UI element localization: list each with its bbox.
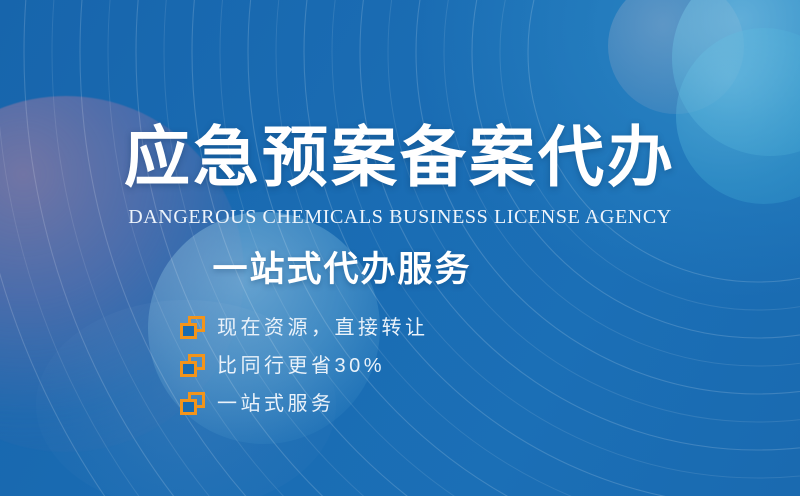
list-item-label: 一站式服务 [217, 392, 335, 416]
list-item: 一站式服务 [180, 390, 429, 417]
page-title: 应急预案备案代办 [0, 117, 800, 197]
overlapping-squares-icon [180, 316, 206, 340]
english-subtitle: DANGEROUS CHEMICALS BUSINESS LICENSE AGE… [0, 205, 800, 229]
list-item-label: 现在资源，直接转让 [217, 316, 429, 340]
list-item-label: 比同行更省30% [217, 354, 385, 378]
overlapping-squares-icon [180, 354, 206, 378]
chinese-subtitle: 一站式代办服务 [0, 247, 742, 293]
promo-banner: 应急预案备案代办 DANGEROUS CHEMICALS BUSINESS LI… [0, 0, 800, 496]
list-item: 比同行更省30% [180, 352, 429, 379]
banner-content: 应急预案备案代办 DANGEROUS CHEMICALS BUSINESS LI… [0, 0, 800, 496]
overlapping-squares-icon [180, 392, 206, 416]
list-item: 现在资源，直接转让 [180, 314, 429, 341]
feature-list: 现在资源，直接转让 比同行更省30% 一站式服务 [180, 314, 429, 417]
